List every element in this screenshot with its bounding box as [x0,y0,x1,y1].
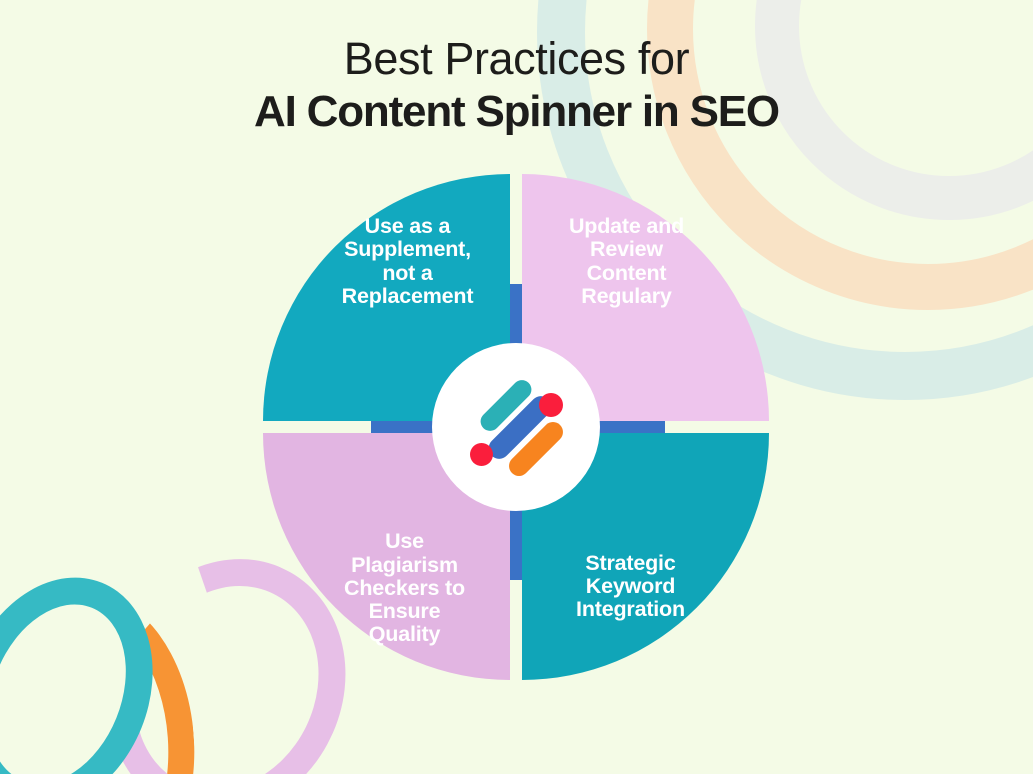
center-logo-hub [432,343,600,511]
logo-red-dot-lower-left-icon [470,443,493,466]
page-title-subline: Best Practices for [0,36,1033,81]
infographic-canvas: Best Practices for AI Content Spinner in… [0,0,1033,774]
teal-ribbon-tail-icon [0,595,234,774]
quadrant-bottom-left-label: Use Plagiarism Checkers to Ensure Qualit… [344,530,465,646]
page-title-mainline: AI Content Spinner in SEO [0,87,1033,136]
quadrant-wheel-diagram: Use as a Supplement, not a Replacement U… [263,174,769,680]
quadrant-top-right-label: Update and Review Content Regulary [569,215,684,308]
orange-ribbon-icon [0,585,204,774]
quadrant-top-left-label: Use as a Supplement, not a Replacement [342,215,474,308]
quadrant-bottom-right-label: Strategic Keyword Integration [576,552,685,622]
logo-red-dot-upper-right-icon [539,393,563,417]
page-title: Best Practices for AI Content Spinner in… [0,36,1033,136]
teal-ribbon-loop-icon [0,549,186,774]
brand-logo-icon [432,343,600,511]
